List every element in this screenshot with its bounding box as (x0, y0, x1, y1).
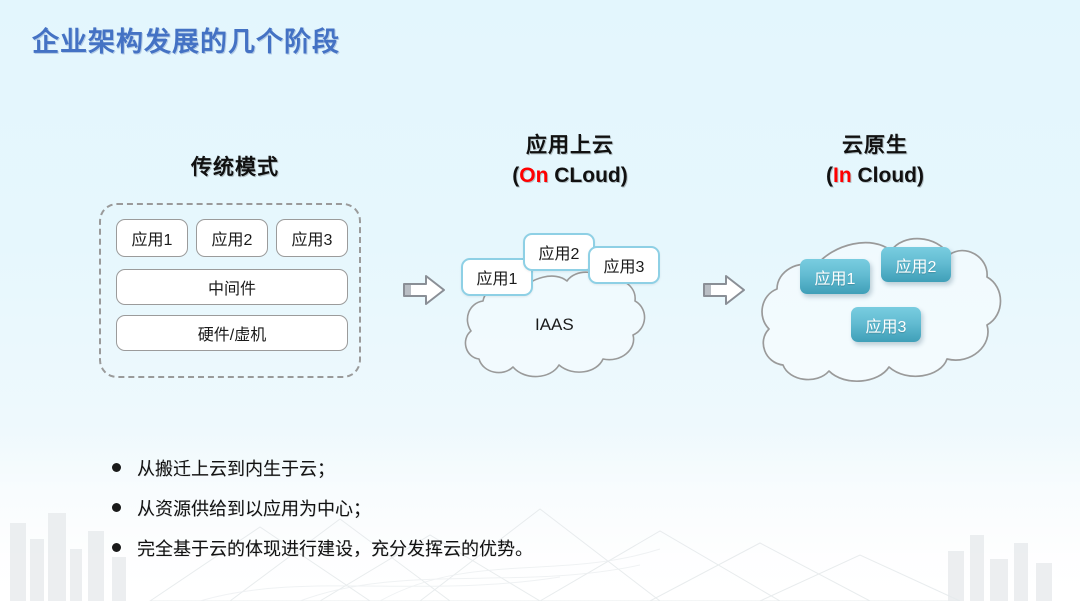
bullet-dot-icon (112, 503, 121, 512)
traditional-app-1[interactable]: 应用1 (116, 219, 188, 257)
bullet-list: 从搬迁上云到内生于云； 从资源供给到以应用为中心； 完全基于云的体现进行建设，充… (112, 455, 732, 575)
traditional-app-2[interactable]: 应用2 (196, 219, 268, 257)
panel-heading-incloud-en: (In Cloud) (755, 163, 995, 190)
panel-heading-traditional: 传统模式 (110, 155, 360, 182)
paren-open: ( (826, 164, 833, 187)
list-item: 从资源供给到以应用为中心； (112, 495, 732, 521)
paren-close: ) (621, 164, 628, 187)
bullet-dot-icon (112, 543, 121, 552)
traditional-architecture-container: 应用1 应用2 应用3 中间件 硬件/虚机 (99, 203, 361, 378)
oncloud-app-3[interactable]: 应用3 (588, 246, 660, 284)
panel-heading-traditional-cn: 传统模式 (110, 155, 360, 182)
panel-heading-incloud: 云原生 (In Cloud) (755, 133, 995, 190)
rest-word: Cloud (852, 164, 917, 187)
bullet-text-3: 完全基于云的体现进行建设，充分发挥云的优势。 (137, 535, 533, 561)
rest-word: CLoud (548, 164, 620, 187)
bullet-text-2: 从资源供给到以应用为中心； (137, 495, 371, 521)
cloud-label-iaas: IAAS (535, 315, 574, 335)
list-item: 完全基于云的体现进行建设，充分发挥云的优势。 (112, 535, 732, 561)
traditional-layer-middleware[interactable]: 中间件 (116, 269, 348, 305)
highlight-word: In (833, 164, 852, 187)
cloud-outline-icon (755, 215, 1020, 390)
arrow-right-icon (702, 273, 746, 307)
incloud-app-3[interactable]: 应用3 (851, 307, 921, 342)
panel-heading-oncloud: 应用上云 (On CLoud) (450, 133, 690, 190)
slide-canvas: 企业架构发展的几个阶段 传统模式 应用1 应用2 应用3 中间件 硬件/虚机 应… (0, 0, 1080, 601)
arrow-right-icon (402, 273, 446, 307)
incloud-app-1[interactable]: 应用1 (800, 259, 870, 294)
page-title: 企业架构发展的几个阶段 (32, 20, 340, 59)
incloud-diagram: 应用1 应用2 应用3 (755, 215, 1020, 390)
oncloud-diagram: IAAS 应用1 应用2 应用3 (455, 225, 685, 385)
paren-close: ) (917, 164, 924, 187)
incloud-app-2[interactable]: 应用2 (881, 247, 951, 282)
panel-heading-incloud-cn: 云原生 (755, 133, 995, 160)
oncloud-app-2[interactable]: 应用2 (523, 233, 595, 271)
bullet-text-1: 从搬迁上云到内生于云； (137, 455, 335, 481)
list-item: 从搬迁上云到内生于云； (112, 455, 732, 481)
traditional-app-3[interactable]: 应用3 (276, 219, 348, 257)
traditional-app-row: 应用1 应用2 应用3 (116, 219, 348, 257)
panel-heading-oncloud-en: (On CLoud) (450, 163, 690, 190)
bullet-dot-icon (112, 463, 121, 472)
traditional-layer-hardware[interactable]: 硬件/虚机 (116, 315, 348, 351)
highlight-word: On (519, 164, 548, 187)
panel-heading-oncloud-cn: 应用上云 (450, 133, 690, 160)
